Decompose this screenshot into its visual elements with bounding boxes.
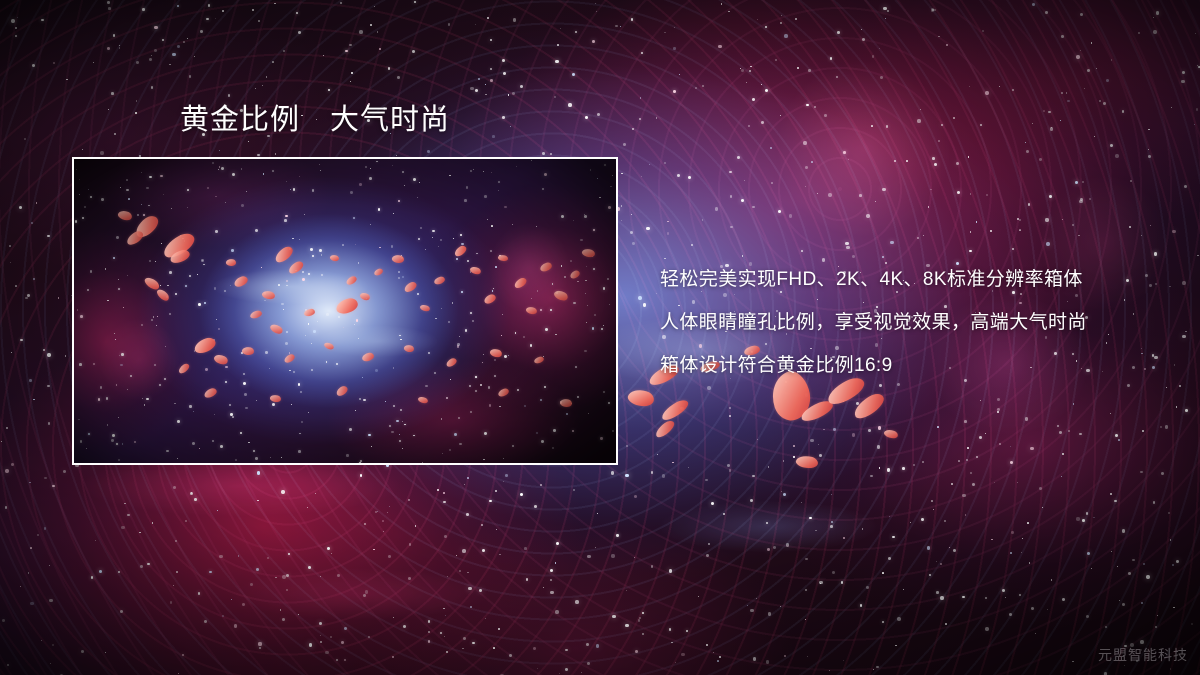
framed-nebula-panel xyxy=(72,157,618,465)
company-watermark: 元盟智能科技 xyxy=(1098,645,1188,665)
description-line-2: 人体眼睛瞳孔比例，享受视觉效果，高端大气时尚 xyxy=(660,301,1180,344)
petal xyxy=(653,418,677,439)
panel-vignette xyxy=(74,159,616,463)
page-title: 黄金比例 大气时尚 xyxy=(180,103,450,138)
description-line-3: 箱体设计符合黄金比例16:9 xyxy=(660,344,1180,387)
petal xyxy=(659,397,691,422)
petal xyxy=(795,454,819,470)
description-line-1: 轻松完美实现FHD、2K、4K、8K标准分辨率箱体 xyxy=(660,258,1180,301)
feature-description: 轻松完美实现FHD、2K、4K、8K标准分辨率箱体 人体眼睛瞳孔比例，享受视觉效… xyxy=(660,258,1180,387)
petal xyxy=(626,387,655,410)
petal xyxy=(883,428,899,440)
presentation-slide: 黄金比例 大气时尚 轻松完美实现FHD、2K、4K、8K标准分辨率箱体 人体眼睛… xyxy=(0,0,1200,675)
